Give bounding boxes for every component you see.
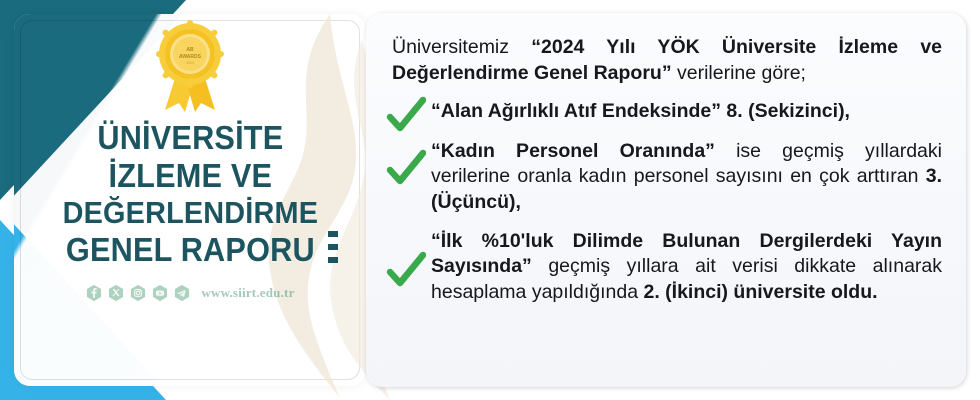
dot-dash xyxy=(328,244,338,250)
x-twitter-icon[interactable] xyxy=(107,284,125,302)
check-icon xyxy=(386,149,426,189)
website-url[interactable]: www.siirt.edu.tr xyxy=(201,285,294,301)
list-item-bold-1: “Kadın Personel Oranında” xyxy=(431,140,715,162)
title-line-3: DEĞERLENDİRME xyxy=(62,197,318,228)
social-links-row: www.siirt.edu.tr xyxy=(85,284,294,302)
list-item-text: “Kadın Personel Oranında” ise geçmiş yıl… xyxy=(431,140,942,213)
intro-paragraph: Üniversitemiz “2024 Yılı YÖK Üniversite … xyxy=(384,35,942,86)
instagram-icon[interactable] xyxy=(129,284,147,302)
list-item-bold-1: “Alan Ağırlıklı Atıf Endeksinde” xyxy=(431,100,721,122)
check-icon xyxy=(386,251,426,291)
title-line-4: GENEL RAPORU xyxy=(62,233,318,266)
list-item: “Kadın Personel Oranında” ise geçmiş yıl… xyxy=(384,139,942,215)
list-item-bold-2: 8. (Sekizinci), xyxy=(721,100,850,122)
telegram-icon[interactable] xyxy=(173,284,191,302)
title-line-2: İZLEME VE xyxy=(62,159,318,192)
dot-dash xyxy=(328,231,338,237)
list-item-text: “İlk %10'luk Dilimde Bulunan Dergilerdek… xyxy=(431,230,942,303)
youtube-icon[interactable] xyxy=(151,284,169,302)
list-item-text: “Alan Ağırlıklı Atıf Endeksinde” 8. (Sek… xyxy=(431,100,850,122)
svg-text:AB: AB xyxy=(186,47,194,53)
list-item: “Alan Ağırlıklı Atıf Endeksinde” 8. (Sek… xyxy=(384,99,942,124)
right-panel: Üniversitemiz “2024 Yılı YÖK Üniversite … xyxy=(366,13,966,387)
list-item: “İlk %10'luk Dilimde Bulunan Dergilerdek… xyxy=(384,229,942,305)
check-icon xyxy=(386,96,426,136)
svg-text:AWARDS: AWARDS xyxy=(179,54,202,60)
left-panel: AB AWARDS 2024 ÜNİVERSİTE İZLEME VE DEĞE… xyxy=(14,14,366,386)
intro-tail: verilerine göre; xyxy=(672,62,806,84)
facebook-icon[interactable] xyxy=(85,284,103,302)
intro-lead: Üniversitemiz xyxy=(392,36,531,58)
list-item-bold-2: 2. (İkinci) üniversite oldu. xyxy=(643,281,877,303)
page-title: ÜNİVERSİTE İZLEME VE DEĞERLENDİRME GENEL… xyxy=(53,116,328,271)
poster-root: AB AWARDS 2024 ÜNİVERSİTE İZLEME VE DEĞE… xyxy=(0,0,980,400)
title-line-1: ÜNİVERSİTE xyxy=(62,121,318,154)
award-ribbon-icon: AB AWARDS 2024 xyxy=(151,20,229,112)
svg-text:2024: 2024 xyxy=(186,61,194,65)
achievement-list: “Alan Ağırlıklı Atıf Endeksinde” 8. (Sek… xyxy=(384,99,942,304)
dot-dash xyxy=(328,257,338,263)
dotted-divider xyxy=(328,231,338,263)
